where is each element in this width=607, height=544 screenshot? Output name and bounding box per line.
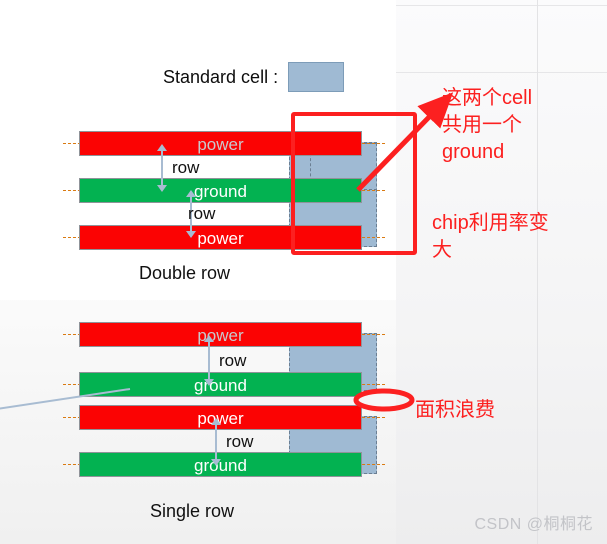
- chip-utilization-annotation: chip利用率变 大: [432, 210, 549, 264]
- power-rail: power: [79, 322, 362, 347]
- single-row-caption: Single row: [150, 501, 234, 522]
- single-row-diagram: power ground power ground row row Single…: [0, 0, 396, 544]
- background-rule-top: [396, 5, 607, 6]
- ground-rail-label: ground: [194, 377, 247, 394]
- shared-ground-highlight-box: [291, 112, 417, 255]
- csdn-watermark: CSDN @桐桐花: [474, 510, 593, 534]
- row-height-label: row: [219, 351, 246, 371]
- row-height-arrow: [208, 341, 210, 380]
- background-rule-second: [396, 72, 607, 73]
- ground-rail: ground: [79, 372, 362, 397]
- shared-ground-annotation: 这两个cell 共用一个 ground: [442, 85, 532, 165]
- row-height-arrow: [215, 424, 217, 460]
- background-divider-vertical: [537, 0, 538, 544]
- area-waste-annotation: 面积浪费: [415, 397, 495, 424]
- row-height-label: row: [226, 432, 253, 452]
